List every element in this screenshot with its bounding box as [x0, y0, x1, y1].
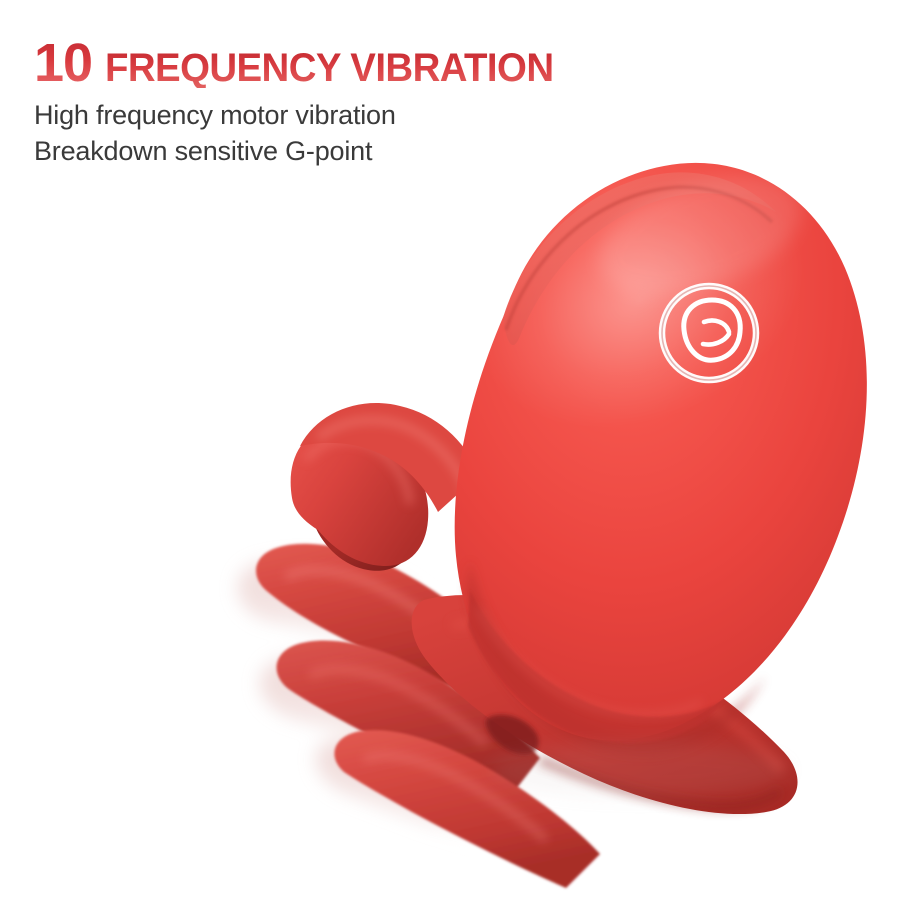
product-feature-slide: 10 FREQUENCY VIBRATION High frequency mo…: [0, 0, 900, 900]
headline-words: FREQUENCY VIBRATION: [105, 48, 553, 88]
petal-cavity: [308, 470, 414, 571]
bottom-notch: [486, 715, 539, 754]
power-button[interactable]: [662, 286, 756, 380]
subheading-line-2: Breakdown sensitive G-point: [34, 134, 634, 170]
headline: 10 FREQUENCY VIBRATION: [34, 36, 634, 90]
caption-block: 10 FREQUENCY VIBRATION High frequency mo…: [34, 36, 634, 170]
headline-number: 10: [34, 36, 92, 90]
product-main-body: [437, 125, 866, 756]
petal-left-flare: [300, 403, 480, 512]
tongue-middle: [277, 641, 540, 802]
tongue-upper: [256, 544, 500, 694]
contact-shadow: [490, 742, 790, 798]
subheading-line-1: High frequency motor vibration: [34, 98, 634, 134]
rose-glyph-icon: [684, 300, 740, 360]
tongue-lower: [334, 730, 600, 888]
dome-scalloped-edge: [468, 590, 724, 743]
petal-left-outer: [291, 424, 429, 566]
motion-blur-ghosts: [238, 558, 534, 852]
petal-front-lower: [412, 595, 798, 814]
